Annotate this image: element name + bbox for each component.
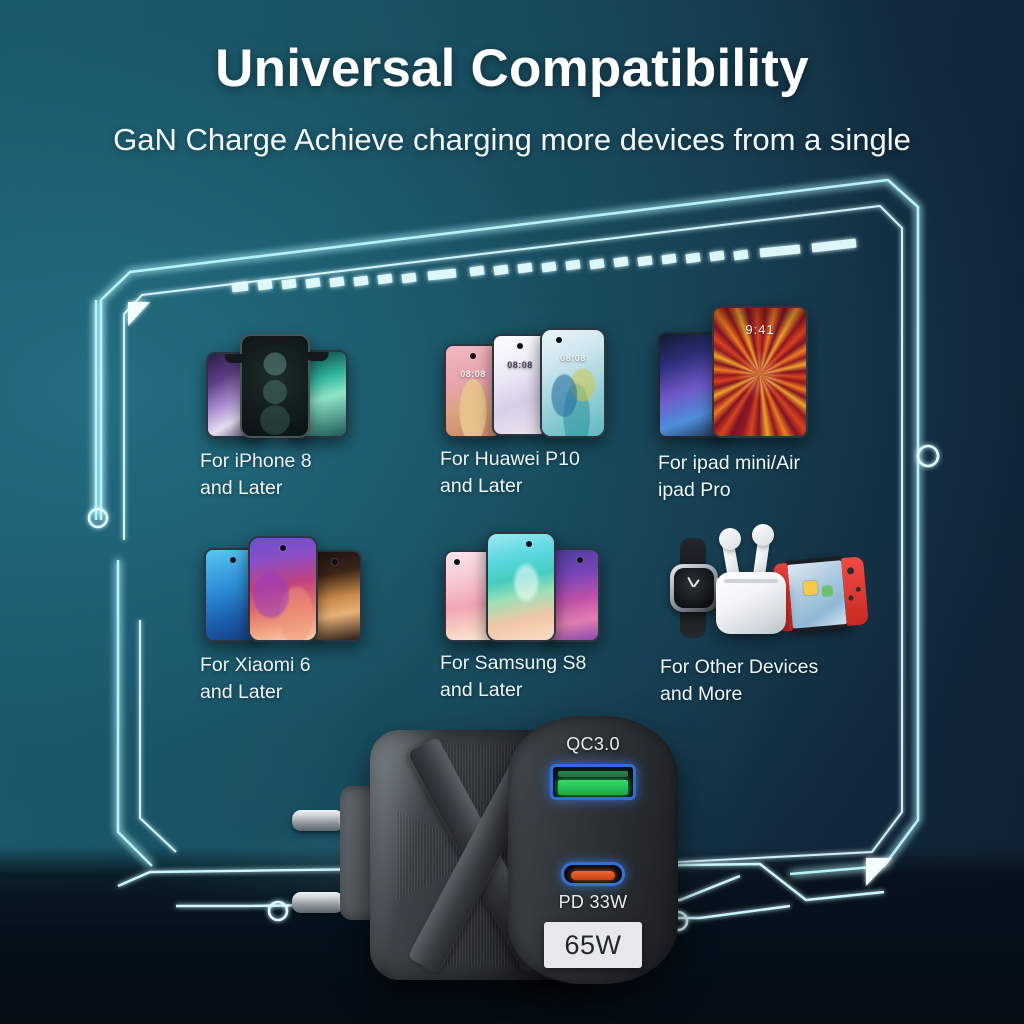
circuit-node-left bbox=[89, 509, 107, 527]
xiaomi-device-art bbox=[200, 534, 430, 642]
compat-caption-ipad: For ipad mini/Air ipad Pro bbox=[658, 450, 898, 504]
compat-caption-other: For Other Devices and More bbox=[660, 654, 910, 708]
usb-c-port[interactable] bbox=[561, 862, 625, 886]
charger-port-face: QC3.0 PD 33W 65W bbox=[508, 716, 678, 984]
ipad-clock: 9:41 bbox=[714, 322, 806, 337]
huawei-device-art: 08:08 08:08 08:08 bbox=[440, 326, 670, 438]
usb-a-label: QC3.0 bbox=[508, 734, 678, 755]
watch-case bbox=[670, 564, 718, 612]
device-samsung-cyan bbox=[486, 532, 556, 642]
other-device-art bbox=[660, 528, 910, 640]
compat-cell-iphone: For iPhone 8 and Later bbox=[200, 330, 430, 502]
huawei-blue-clock: 08:08 bbox=[542, 353, 604, 363]
compat-cell-other: For Other Devices and More bbox=[660, 528, 910, 708]
huawei-white-clock: 08:08 bbox=[494, 360, 546, 370]
infographic-canvas: Universal Compatibility GaN Charge Achie… bbox=[0, 0, 1024, 1024]
switch-joycon-right bbox=[841, 556, 869, 626]
device-iphone-graphite bbox=[240, 334, 310, 438]
airpod-right-tip bbox=[752, 524, 774, 546]
airpods-case-body bbox=[716, 572, 786, 634]
page-subtitle: GaN Charge Achieve charging more devices… bbox=[0, 122, 1024, 158]
compat-cell-samsung: For Samsung S8 and Later bbox=[440, 532, 670, 704]
ipad-device-art: 9:41 bbox=[658, 306, 898, 438]
gan-charger-product: GaN QC3.0 PD 33W 65W bbox=[286, 716, 678, 984]
compat-caption-xiaomi: For Xiaomi 6 and Later bbox=[200, 652, 430, 706]
device-xiaomi-magenta bbox=[248, 536, 318, 642]
compat-cell-huawei: 08:08 08:08 08:08 For Huawei P10 and Lat… bbox=[440, 326, 670, 500]
airpod-left-tip bbox=[719, 528, 741, 550]
huawei-rose-clock: 08:08 bbox=[446, 369, 500, 379]
compat-caption-huawei: For Huawei P10 and Later bbox=[440, 446, 670, 500]
samsung-device-art bbox=[440, 532, 670, 642]
usb-a-port[interactable] bbox=[550, 764, 636, 800]
compat-cell-ipad: 9:41 For ipad mini/Air ipad Pro bbox=[658, 306, 898, 504]
device-airpods-case bbox=[712, 528, 790, 640]
plug-pin-top bbox=[292, 810, 344, 831]
device-huawei-blue: 08:08 bbox=[540, 328, 606, 438]
usb-c-label: PD 33W bbox=[508, 892, 678, 913]
compat-caption-iphone: For iPhone 8 and Later bbox=[200, 448, 430, 502]
total-power-badge: 65W bbox=[544, 922, 642, 968]
compat-cell-xiaomi: For Xiaomi 6 and Later bbox=[200, 534, 430, 706]
page-title: Universal Compatibility bbox=[0, 38, 1024, 99]
plug-pin-bottom bbox=[292, 892, 344, 913]
iphone-device-art bbox=[200, 330, 430, 438]
corner-accent-top-left bbox=[128, 302, 150, 326]
circuit-node-right bbox=[918, 446, 938, 466]
device-ipad-sunburst: 9:41 bbox=[712, 306, 808, 438]
compat-caption-samsung: For Samsung S8 and Later bbox=[440, 650, 670, 704]
